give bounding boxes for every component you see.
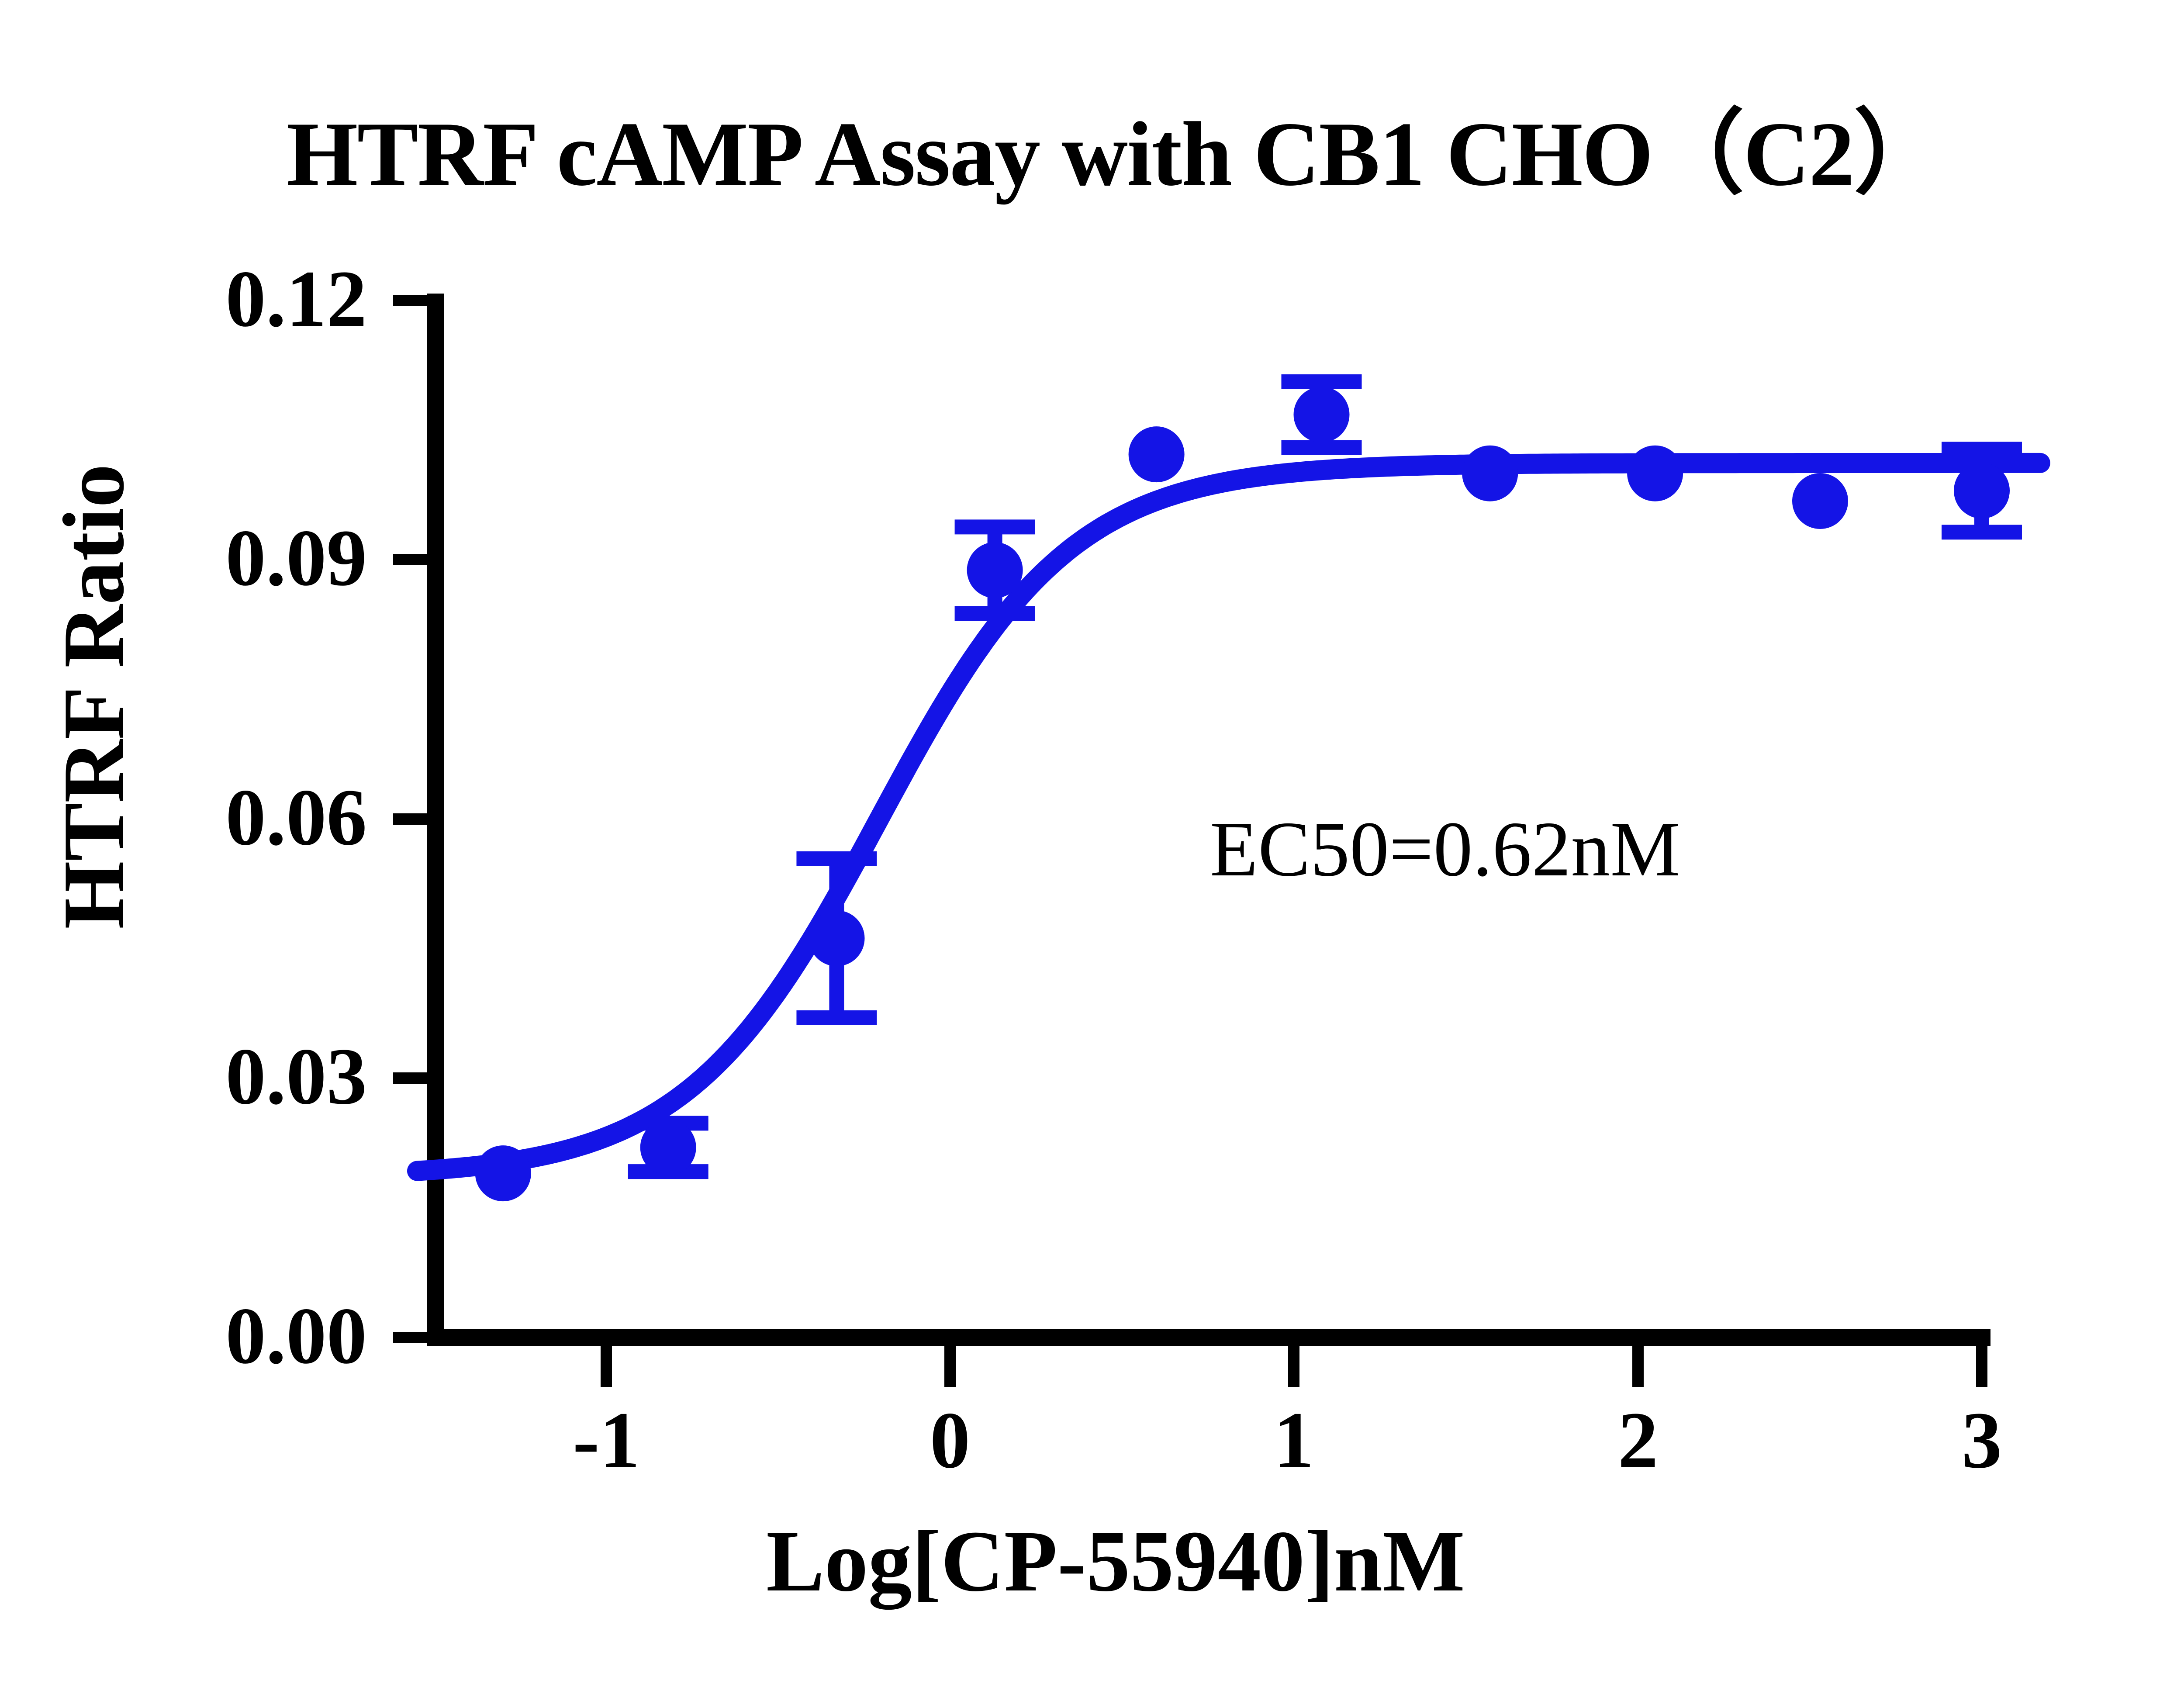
x-axis-title: Log[CP-55940]nM [0,1511,2184,1611]
y-tick-label-0-12: 0.12 [83,259,367,339]
y-tick-label-0-03: 0.03 [83,1036,367,1117]
data-point [475,1145,531,1201]
data-point [1627,446,1683,501]
y-tick-label-0-00: 0.00 [83,1296,367,1376]
x-tick-label-0: 0 [819,1400,1081,1481]
x-tick-label-1: 1 [1163,1400,1425,1481]
data-point [967,542,1023,598]
data-point [640,1120,696,1175]
y-axis-title: HTRF Ratio [44,435,144,959]
data-point [1294,387,1350,442]
data-point [1129,426,1185,482]
data-point [1954,463,2010,519]
x-tick-label-3: 3 [1851,1400,2113,1481]
data-point [809,910,865,966]
data-point [1462,446,1518,501]
data-point [1792,473,1848,529]
chart-figure: HTRF cAMP Assay with CB1 CHO（C2） 0.12 0.… [0,0,2184,1687]
axis-lines [427,294,1990,1338]
ec50-annotation: EC50=0.62nM [1210,804,1680,894]
x-tick-label-2: 2 [1507,1400,1769,1481]
x-tick-label-minus-1: -1 [475,1400,737,1481]
